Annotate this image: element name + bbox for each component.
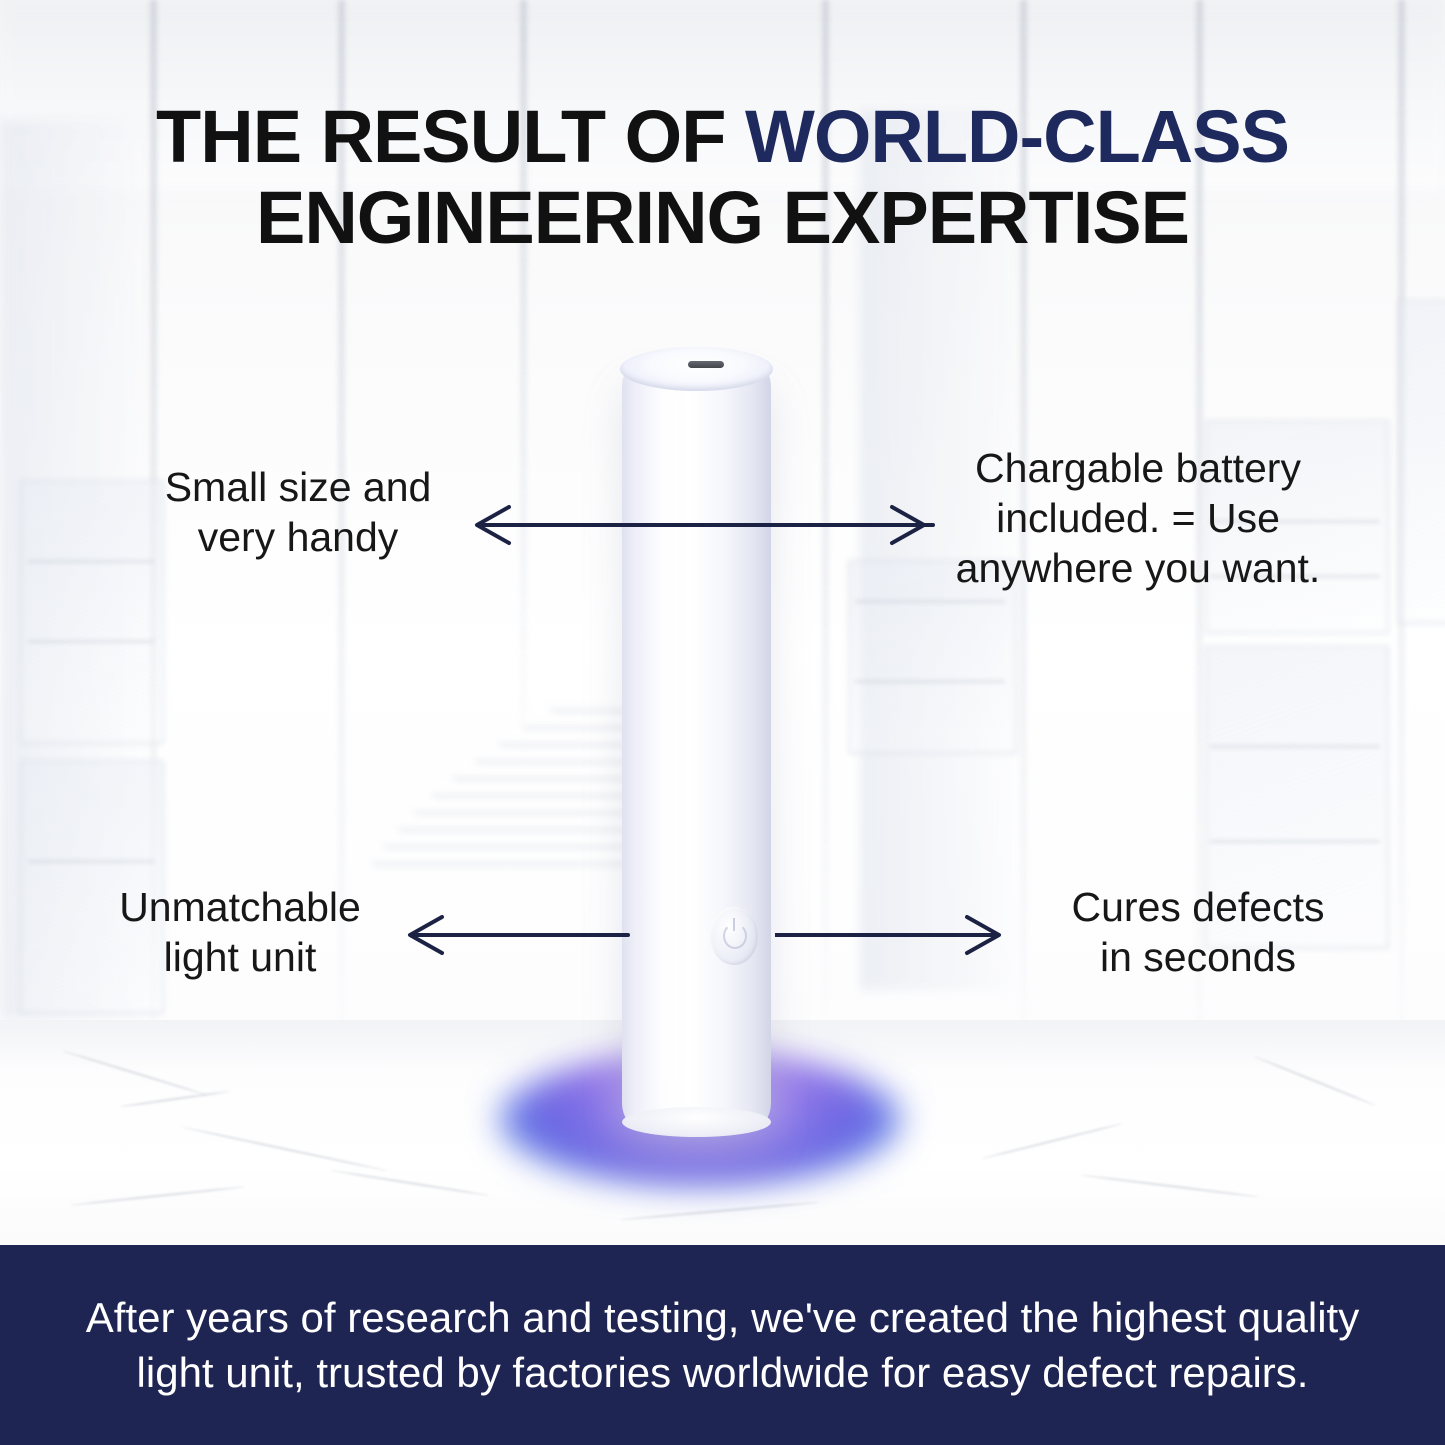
shelf-line: [28, 640, 154, 643]
device-highlight: [658, 387, 688, 1087]
device-body: [622, 361, 771, 1129]
callout-chargable-battery: Chargable battery included. = Use anywhe…: [918, 443, 1358, 593]
headline-line2: ENGINEERING EXPERTISE: [0, 177, 1445, 258]
arrow-right-top: [770, 500, 930, 550]
callout-cures-defects: Cures defects in seconds: [1008, 882, 1388, 982]
device-top-cap: [620, 347, 773, 391]
shelf-line: [1210, 840, 1380, 843]
callout-unmatchable-light-unit: Unmatchable light unit: [60, 882, 420, 982]
product-device: [614, 347, 779, 1137]
bottom-banner: After years of research and testing, we'…: [0, 1245, 1445, 1445]
shelf-line: [855, 600, 1005, 603]
headline-line1-plain: THE RESULT OF: [156, 95, 745, 178]
device-base: [622, 1107, 771, 1137]
arrow-right-bottom: [775, 910, 1010, 960]
page-title: THE RESULT OF WORLD-CLASS ENGINEERING EX…: [0, 96, 1445, 259]
headline-line1-accent: WORLD-CLASS: [745, 95, 1289, 178]
shelf-line: [1210, 745, 1380, 748]
shelf-line: [855, 680, 1005, 683]
power-icon: [723, 923, 747, 949]
callout-small-size: Small size and very handy: [88, 462, 508, 562]
banner-text: After years of research and testing, we'…: [58, 1290, 1388, 1401]
led-aperture-icon: [688, 361, 724, 368]
product-infographic-poster: THE RESULT OF WORLD-CLASS ENGINEERING EX…: [0, 0, 1445, 1445]
arrow-left-bottom: [398, 910, 630, 960]
glass-cabinet: [1398, 300, 1445, 624]
power-button[interactable]: [710, 907, 758, 965]
shelf-line: [28, 860, 154, 863]
